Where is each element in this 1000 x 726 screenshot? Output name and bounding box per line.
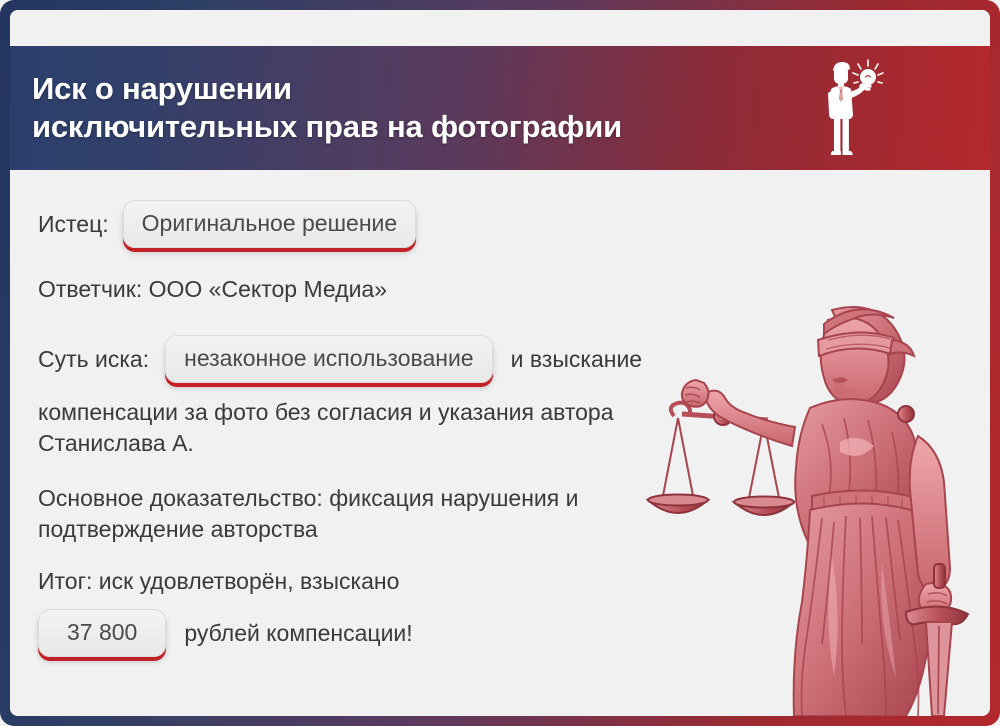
card-inner: Иск о нарушении исключительных прав на ф… — [10, 10, 990, 716]
result-label: Итог: иск удовлетворён, взыскано — [38, 566, 399, 596]
amount-suffix: рублей компенсации! — [184, 618, 412, 648]
plaintiff-value-chip[interactable]: Оригинальное решение — [123, 200, 417, 248]
page-title-line2: исключительных прав на фотографии — [32, 108, 622, 146]
evidence-paragraph: Основное доказательство: фиксация наруше… — [38, 483, 638, 545]
claim-paragraph: компенсации за фото без согласия и указа… — [38, 397, 638, 459]
plaintiff-row: Истец: Оригинальное решение — [38, 200, 962, 248]
claim-subject-chip[interactable]: незаконное использование — [165, 335, 492, 383]
defendant-text: Ответчик: ООО «Сектор Медиа» — [38, 274, 387, 304]
defendant-row: Ответчик: ООО «Сектор Медиа» — [38, 274, 962, 304]
claim-details: Истец: Оригинальное решение Ответчик: ОО… — [38, 200, 962, 657]
page-title-line1: Иск о нарушении — [32, 71, 292, 106]
businessman-with-lightbulb-icon — [810, 56, 890, 160]
claim-subject-label: Суть иска: — [38, 344, 149, 374]
top-strip — [10, 10, 990, 46]
page-title: Иск о нарушении исключительных прав на ф… — [32, 70, 622, 146]
infographic-card: Иск о нарушении исключительных прав на ф… — [0, 0, 1000, 726]
plaintiff-label: Истец: — [38, 209, 109, 239]
header-band: Иск о нарушении исключительных прав на ф… — [10, 46, 990, 170]
claim-subject-row: Суть иска: незаконное использование и вз… — [38, 335, 962, 383]
amount-row: 37 800 рублей компенсации! — [38, 609, 962, 657]
amount-chip[interactable]: 37 800 — [38, 609, 166, 657]
claim-subject-suffix: и взыскание — [511, 344, 642, 374]
result-row: Итог: иск удовлетворён, взыскано — [38, 566, 962, 596]
body-content: Истец: Оригинальное решение Ответчик: ОО… — [10, 170, 990, 716]
